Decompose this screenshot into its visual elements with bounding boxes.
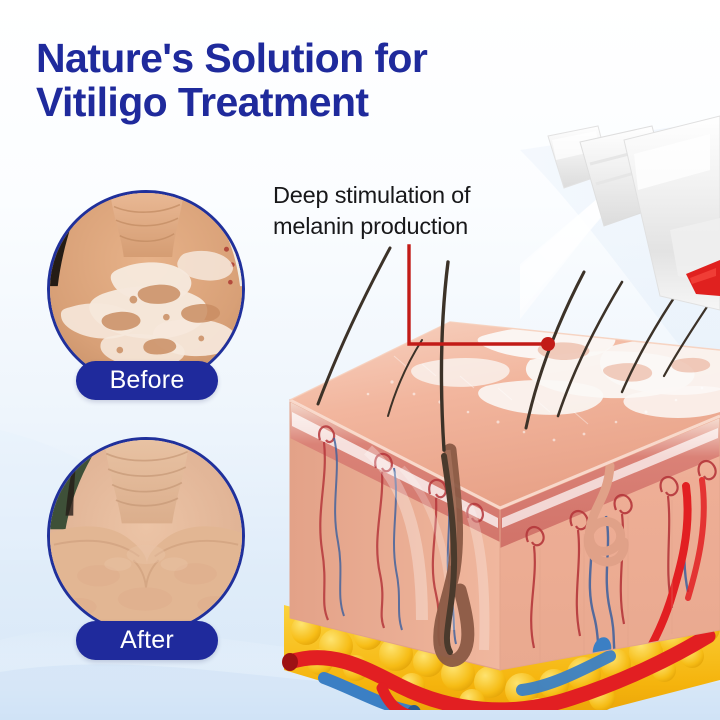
before-photo[interactable]	[47, 190, 245, 388]
title-line-1: Nature's Solution for	[36, 35, 427, 81]
badge-after: After	[76, 621, 218, 660]
before-photo-image	[50, 193, 242, 385]
annotation-text: Deep stimulation of melanin production	[273, 180, 543, 242]
annotation-line-1: Deep stimulation of	[273, 180, 543, 211]
after-photo-image	[50, 440, 242, 632]
spray-bottle	[520, 110, 720, 350]
title-line-2: Vitiligo Treatment	[36, 80, 556, 124]
page-title: Nature's Solution for Vitiligo Treatment	[36, 36, 556, 124]
after-photo[interactable]	[47, 437, 245, 635]
annotation-line-2: melanin production	[273, 211, 543, 242]
promo-canvas: Nature's Solution for Vitiligo Treatment	[0, 0, 720, 720]
badge-before: Before	[76, 361, 218, 400]
